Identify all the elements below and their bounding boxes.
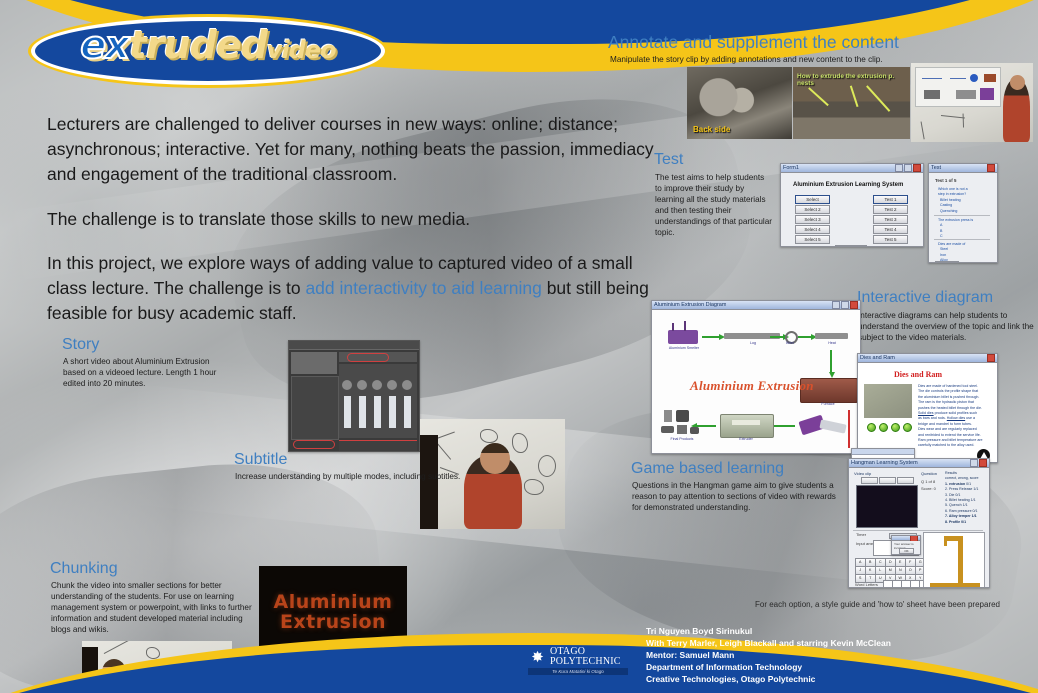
editor-highlight-ellipse (347, 353, 389, 362)
test-quiz-body: Test 1 of 5 Which one is not astep in ex… (929, 173, 997, 263)
hangman-window[interactable]: Hangman Learning System Video clip Quest… (848, 458, 990, 588)
test-button-4[interactable]: Test 4 (873, 225, 908, 234)
institution-name: OTAGO POLYTECHNIC (550, 647, 621, 666)
institution-tagline: Te Kura Matatini ki Otago (528, 668, 628, 675)
otago-polytechnic-logo: ✸ OTAGO POLYTECHNIC Te Kura Matatini ki … (528, 647, 632, 681)
mixer-knob[interactable] (342, 380, 352, 390)
logo-ex: ex (80, 23, 128, 67)
interactive-diagram-section-title: Interactive diagram (857, 290, 993, 307)
progress-dot[interactable] (891, 423, 900, 432)
mixer-knob[interactable] (372, 380, 382, 390)
diagram-heading: Aluminium Extrusion (690, 378, 814, 394)
quiz-question-3: Dies are made of Steel Iron Alloy (938, 242, 965, 263)
dies-description: Dies are made of hardened tool steel. Th… (918, 384, 990, 449)
product-icon[interactable] (677, 425, 687, 434)
maximize-icon[interactable] (841, 301, 849, 309)
heated-billet-bar[interactable] (815, 333, 848, 339)
test-button-1[interactable]: Test 1 (873, 195, 908, 204)
window-titlebar[interactable]: Form1 (781, 164, 923, 173)
whiteboard-scribble (538, 455, 556, 477)
editor-preview[interactable] (291, 352, 337, 374)
mixer-knob[interactable] (387, 380, 397, 390)
whiteboard-scribble (941, 115, 965, 119)
hangman-timer-label: Timer (856, 532, 866, 538)
diagram-node (970, 74, 978, 82)
whiteboard-scribble (512, 433, 528, 453)
test-app-window[interactable]: Form1 Aluminium Extrusion Learning Syste… (780, 163, 924, 247)
dies-heading: Dies and Ram (894, 370, 942, 379)
test-select-button-3[interactable]: Select 3 (795, 215, 830, 224)
story-section-title: Story (62, 337, 99, 354)
flow-arrow (770, 336, 784, 338)
diagram-caption-smelter: Aluminium Smelter (662, 346, 706, 350)
smelter-icon[interactable] (668, 330, 698, 344)
extruder-detail (732, 420, 760, 425)
annotate-photo-factory: How to extrude the extrusion p. nests (793, 67, 910, 139)
diagram-node (956, 90, 976, 99)
editor-titlebar[interactable] (289, 341, 419, 350)
progress-dot[interactable] (879, 423, 888, 432)
window-titlebar[interactable]: Aluminium Extrusion Diagram (652, 301, 860, 310)
test-section-body: The test aims to help students to improv… (655, 172, 773, 238)
test-section-title: Test (654, 152, 683, 169)
diagram-node (980, 88, 994, 100)
close-icon[interactable] (987, 164, 995, 172)
video-editor-window[interactable] (288, 340, 420, 452)
whiteboard-scribble (480, 429, 498, 443)
hangman-alert-dialog[interactable]: Your answer is incorrect OK (891, 535, 921, 555)
whiteboard-scribble (962, 114, 964, 128)
annotate-photo-label: Back side (693, 125, 730, 134)
window-title: Dies and Ram (860, 355, 895, 361)
editor-highlight-ellipse (293, 440, 335, 449)
minimize-icon[interactable] (895, 164, 903, 172)
extrusion-diagram-window[interactable]: Aluminium Extrusion Diagram Aluminium Sm… (651, 300, 861, 454)
annotation-arrow (866, 85, 890, 111)
test-select-button-4[interactable]: Select 4 (795, 225, 830, 234)
hangman-video-panel[interactable] (856, 485, 918, 528)
product-icon[interactable] (661, 426, 674, 433)
mixer-fader[interactable] (344, 396, 351, 428)
close-icon[interactable] (979, 459, 987, 467)
titlecard-line-1: Aluminium (274, 593, 393, 613)
game-section-body: Questions in the Hangman game aim to giv… (632, 480, 837, 513)
test-quiz-window[interactable]: Test Test 1 of 5 Which one is not astep … (928, 163, 998, 263)
quiz-question-2: The extrusion press is A B C (938, 218, 973, 240)
diagram-node (924, 90, 940, 99)
test-button-5[interactable]: Test 5 (873, 235, 908, 244)
window-controls[interactable] (970, 459, 987, 467)
credit-line-4: Department of Information Technology (646, 661, 891, 673)
story-section-body: A short video about Aluminium Extrusion … (63, 356, 223, 389)
divider (934, 215, 990, 216)
diagram-caption-extruder: Extruder (728, 437, 764, 441)
window-controls[interactable] (895, 164, 921, 172)
intro-copy: Lecturers are challenged to deliver cour… (47, 112, 661, 346)
editor-timeline[interactable] (339, 440, 417, 452)
test-select-button-5[interactable]: Select 5 (795, 235, 830, 244)
test-app-body: Aluminium Extrusion Learning System Sele… (781, 173, 923, 247)
credit-line-5: Creative Technologies, Otago Polytechnic (646, 673, 891, 685)
dies-and-ram-window[interactable]: Dies and Ram Dies and Ram Dies are made … (857, 353, 998, 463)
annotate-section-title: Annotate and supplement the content (608, 33, 899, 51)
test-exit-button[interactable]: Exit (835, 245, 867, 247)
poster-canvas: extrudedvideo Lecturers are challenged t… (0, 0, 1038, 693)
mixer-fader[interactable] (374, 396, 381, 428)
intro-paragraph-2: The challenge is to translate those skil… (47, 207, 661, 232)
close-icon[interactable] (850, 301, 858, 309)
flow-arrow-left (773, 425, 795, 427)
ram-icon[interactable] (819, 419, 846, 433)
product-icon[interactable] (664, 410, 672, 422)
diagram-line (950, 78, 966, 79)
logo-truded: truded (129, 23, 267, 67)
mixer-fader[interactable] (359, 396, 366, 428)
subtitle-section-body: Increase understanding by multiple modes… (235, 471, 475, 482)
hangman-gallows-canvas (923, 532, 985, 588)
progress-dot[interactable] (903, 423, 912, 432)
close-icon[interactable] (913, 164, 921, 172)
hangman-question-number: Q 1 of 8 (921, 479, 935, 485)
hangman-word-label: Word Letters (855, 582, 878, 588)
interactive-diagram-section-body: Interactive diagrams can help students t… (858, 310, 1034, 343)
credit-line-1: Tri Nguyen Boyd Sirinukul (646, 625, 891, 637)
test-app-heading: Aluminium Extrusion Learning System (793, 181, 903, 190)
quiz-heading: Test 1 of 5 (935, 178, 956, 184)
gallows-rope (944, 536, 947, 546)
diagram-caption-heat: Heat (820, 341, 844, 345)
video-play-button[interactable] (861, 477, 878, 484)
minimize-icon[interactable] (832, 301, 840, 309)
test-select-button-2[interactable]: Select 2 (795, 205, 830, 214)
flow-arrow-down (830, 350, 832, 372)
maximize-icon[interactable] (904, 164, 912, 172)
institution-line-2: POLYTECHNIC (550, 657, 621, 667)
annotate-photo-lecturer (911, 63, 1033, 142)
gallows-base (930, 583, 980, 588)
product-icon[interactable] (676, 410, 689, 422)
hangman-results-panel: Results correct, wrong, score 1. extrusi… (945, 471, 985, 525)
dialog-body: Your answer is incorrect OK (892, 541, 920, 555)
diagram-node (984, 74, 996, 82)
progress-dot[interactable] (867, 423, 876, 432)
lecturer-head (1010, 75, 1025, 90)
whiteboard-diagram-panel (915, 67, 1001, 107)
test-button-2[interactable]: Test 2 (873, 205, 908, 214)
flow-arrow-left (696, 425, 716, 427)
diagram-caption-products: Final Products (660, 437, 704, 441)
annotation-arrow (808, 87, 828, 106)
whiteboard-scribble (524, 479, 544, 495)
quiz-submit-button[interactable] (935, 261, 959, 263)
smelter-stack (672, 323, 674, 331)
annotate-photo-die: Back side (687, 67, 792, 139)
test-select-button-1[interactable]: Select (795, 195, 830, 204)
minimize-icon[interactable] (970, 459, 978, 467)
smelter-stack (684, 321, 686, 331)
dialog-ok-button[interactable]: OK (899, 548, 914, 554)
mixer-knob[interactable] (402, 380, 412, 390)
annotate-section-body: Manipulate the story clip by adding anno… (610, 54, 940, 65)
divider (934, 239, 990, 240)
window-titlebar[interactable]: Hangman Learning System (849, 459, 989, 468)
close-icon[interactable] (987, 354, 995, 362)
dies-photo (864, 384, 912, 418)
video-pause-button[interactable] (879, 477, 896, 484)
editor-media-list[interactable] (291, 376, 339, 440)
hangman-body: Video clip Question Q 1 of 8 Score: 0 Re… (849, 468, 989, 588)
quiz-question-1: Which one is not astep in extrusion? Bil… (938, 187, 968, 214)
diagram-hotspot-marker (848, 410, 850, 448)
whiteboard-scribble (920, 121, 924, 139)
flow-arrow (702, 336, 720, 338)
mixer-fader[interactable] (389, 396, 396, 428)
window-controls[interactable] (987, 354, 995, 362)
credits-block: Tri Nguyen Boyd Sirinukul With Terry Mar… (646, 625, 891, 685)
crest-icon: ✸ (528, 648, 547, 667)
divider (853, 530, 983, 531)
window-title: Aluminium Extrusion Diagram (654, 302, 726, 308)
diagram-caption-log: Log (740, 341, 766, 345)
logo-video: video (267, 36, 336, 64)
editor-mixer[interactable] (339, 364, 417, 438)
window-controls[interactable] (832, 301, 858, 309)
window-controls[interactable] (987, 164, 995, 172)
extruder-icon[interactable] (720, 414, 774, 438)
credit-line-3: Mentor: Samuel Mann (646, 649, 891, 661)
diagram-caption-billet: Billet (779, 341, 801, 345)
extrusion-diagram-body: Aluminium Smelter Log Billet Heat Furnac… (652, 310, 860, 454)
chunking-section-title: Chunking (50, 561, 118, 578)
hangman-score: Score: 0 (921, 486, 936, 492)
hangman-video-label: Video clip (854, 471, 871, 477)
mixer-fader[interactable] (404, 396, 411, 428)
mixer-knob[interactable] (357, 380, 367, 390)
diagram-caption-furnace: Furnace (808, 402, 848, 406)
test-button-3[interactable]: Test 3 (873, 215, 908, 224)
intro-paragraph-3: In this project, we explore ways of addi… (47, 251, 661, 326)
logo-wordmark: extrudedvideo (28, 23, 388, 67)
intro-paragraph-1: Lecturers are challenged to deliver cour… (47, 112, 661, 187)
annotation-arrow (850, 86, 858, 107)
window-titlebar[interactable]: Dies and Ram (858, 354, 997, 363)
annotate-photo-note: How to extrude the extrusion p. nests (797, 73, 910, 87)
window-title: Form1 (783, 165, 799, 171)
credit-line-2: With Terry Marler, Leigh Blackall and st… (646, 637, 891, 649)
gallows-post (958, 536, 963, 585)
window-title: Hangman Learning System (851, 460, 918, 466)
hangman-question-label: Question (921, 471, 937, 477)
product-icon[interactable] (690, 427, 699, 434)
video-stop-button[interactable] (897, 477, 914, 484)
window-titlebar[interactable]: Test (929, 164, 997, 173)
diagram-line (922, 78, 942, 79)
window-title: Test (931, 165, 941, 171)
subtitle-section-title: Subtitle (234, 452, 287, 469)
howto-note: For each option, a style guide and 'how … (755, 600, 1000, 609)
game-section-title: Game based learning (631, 461, 784, 478)
intro-highlight: add interactivity to aid learning (305, 278, 541, 298)
flow-arrow (798, 336, 812, 338)
extruded-video-logo: extrudedvideo (28, 14, 388, 88)
lecturer-head (480, 443, 510, 474)
editor-body (289, 350, 419, 452)
